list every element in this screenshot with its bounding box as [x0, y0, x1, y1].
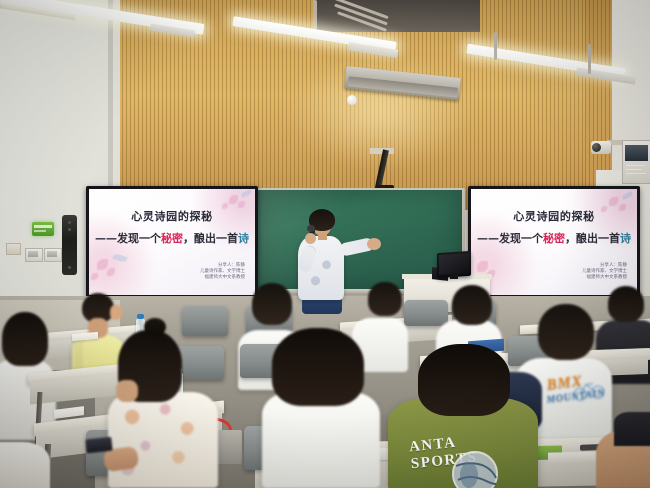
student-chair: [182, 306, 228, 336]
blossom-decor: [238, 201, 245, 208]
slide-credit-line3: 福建师大中文系教授: [582, 275, 627, 281]
slide-subtitle-highlight2: 诗: [238, 232, 249, 245]
slide-subtitle-highlight: 秘密: [161, 232, 183, 245]
student-hair: [2, 312, 48, 366]
student-torso: [262, 392, 380, 488]
wall-panel-line: [626, 165, 646, 166]
student-face: [110, 305, 122, 320]
student-hair: [368, 282, 402, 316]
wall-outlet: [6, 243, 21, 255]
student-shirt-foreground: [614, 412, 650, 446]
projection-screen-left: 心灵诗园的探秘 ——发现一个秘密，酿出一首诗 分享人：陈静 儿童诗作家、文学博士…: [89, 189, 255, 295]
exit-sign-text: [34, 230, 46, 232]
wall-panel-line: [626, 169, 642, 170]
leaf-decor: [112, 253, 127, 263]
projection-screen-left-frame: 心灵诗园的探秘 ——发现一个秘密，酿出一首诗 分享人：陈静 儿童诗作家、文学博士…: [86, 186, 258, 298]
monitor-screen: [439, 253, 469, 275]
student-hair: [538, 304, 594, 360]
bicycle-icon: [570, 376, 606, 402]
slide-credit: 分享人：陈静 儿童诗作家、文学博士 福建师大中文系教授: [200, 263, 245, 281]
slide-subtitle: ——发现一个秘密，酿出一首诗: [471, 230, 637, 246]
student-hair: [272, 328, 364, 406]
blossom-decor: [477, 261, 488, 272]
slide-subtitle-highlight2: 诗: [620, 232, 631, 245]
student-ear: [116, 380, 138, 402]
light-switch-rocker[interactable]: [28, 251, 38, 257]
blossom-decor: [97, 259, 108, 270]
slide-subtitle-mid: ，酿出一首: [183, 232, 238, 245]
speaker-indicator: [68, 228, 71, 231]
slide-credit-line3: 福建师大中文系教授: [200, 275, 245, 281]
speaker-indicator: [68, 266, 71, 269]
student-hair: [252, 283, 292, 325]
teacher-left-hand: [367, 238, 381, 250]
hair-clip: [144, 318, 166, 336]
blossom-decor: [91, 273, 98, 280]
conduit-drop: [313, 0, 317, 30]
bottle-cap: [137, 314, 144, 319]
wall-panel-screen: [625, 145, 648, 161]
wall-panel-line: [626, 173, 646, 174]
projection-screen-right-frame: 心灵诗园的探秘 ——发现一个秘密，酿出一首诗 分享人：陈静 儿童诗作家、文学博士…: [468, 186, 640, 298]
leaf-decor: [240, 189, 252, 198]
slide-content-left: 心灵诗园的探秘 ——发现一个秘密，酿出一首诗 分享人：陈静 儿童诗作家、文学博士…: [89, 189, 255, 295]
monitor-stand: [450, 274, 458, 279]
bmx-graphic: BMX MOUNTAIN: [546, 371, 604, 417]
smoke-detector: [347, 95, 357, 105]
student-hair: [608, 286, 644, 322]
teacher-right-hand: [305, 233, 316, 244]
slide-subtitle: ——发现一个秘密，酿出一首诗: [89, 230, 255, 246]
slide-subtitle-mid: ，酿出一首: [565, 232, 620, 245]
slide-subtitle-pre: ——发现一个: [477, 232, 543, 245]
light-switch-rocker[interactable]: [47, 251, 57, 257]
student-arm: [74, 338, 83, 372]
student-shoulder-foreground: [0, 442, 50, 488]
projection-screen-right: 心灵诗园的探秘 ——发现一个秘密，酿出一首诗 分享人：陈静 儿童诗作家、文学博士…: [471, 189, 637, 295]
light-hanger: [588, 44, 591, 74]
exit-sign-text: [34, 225, 52, 228]
slide-subtitle-highlight: 秘密: [543, 232, 565, 245]
phone[interactable]: [85, 437, 112, 454]
student-chair: [404, 300, 448, 326]
globe-icon: [446, 450, 504, 488]
slide-subtitle-pre: ——发现一个: [95, 232, 161, 245]
slide-title: 心灵诗园的探秘: [471, 208, 637, 224]
leaf-decor: [621, 191, 633, 200]
blossom-decor: [229, 195, 238, 204]
student-torso: [108, 392, 218, 488]
student-hair: [418, 344, 510, 416]
slide-credit: 分享人：陈静 儿童诗作家、文学博士 福建师大中文系教授: [582, 263, 627, 281]
blossom-decor: [609, 197, 618, 206]
light-hanger: [494, 32, 497, 60]
slide-content-right: 心灵诗园的探秘 ——发现一个秘密，酿出一首诗 分享人：陈静 儿童诗作家、文学博士…: [471, 189, 637, 295]
student-hair: [452, 285, 492, 325]
speaker-indicator: [68, 221, 71, 224]
camera-lens-icon: [592, 143, 601, 152]
microphone-head-icon: [307, 225, 315, 232]
blossom-decor: [107, 268, 115, 276]
classroom-photo: 心灵诗园的探秘 ——发现一个秘密，酿出一首诗 分享人：陈静 儿童诗作家、文学博士…: [0, 0, 650, 488]
slide-title: 心灵诗园的探秘: [89, 208, 255, 224]
